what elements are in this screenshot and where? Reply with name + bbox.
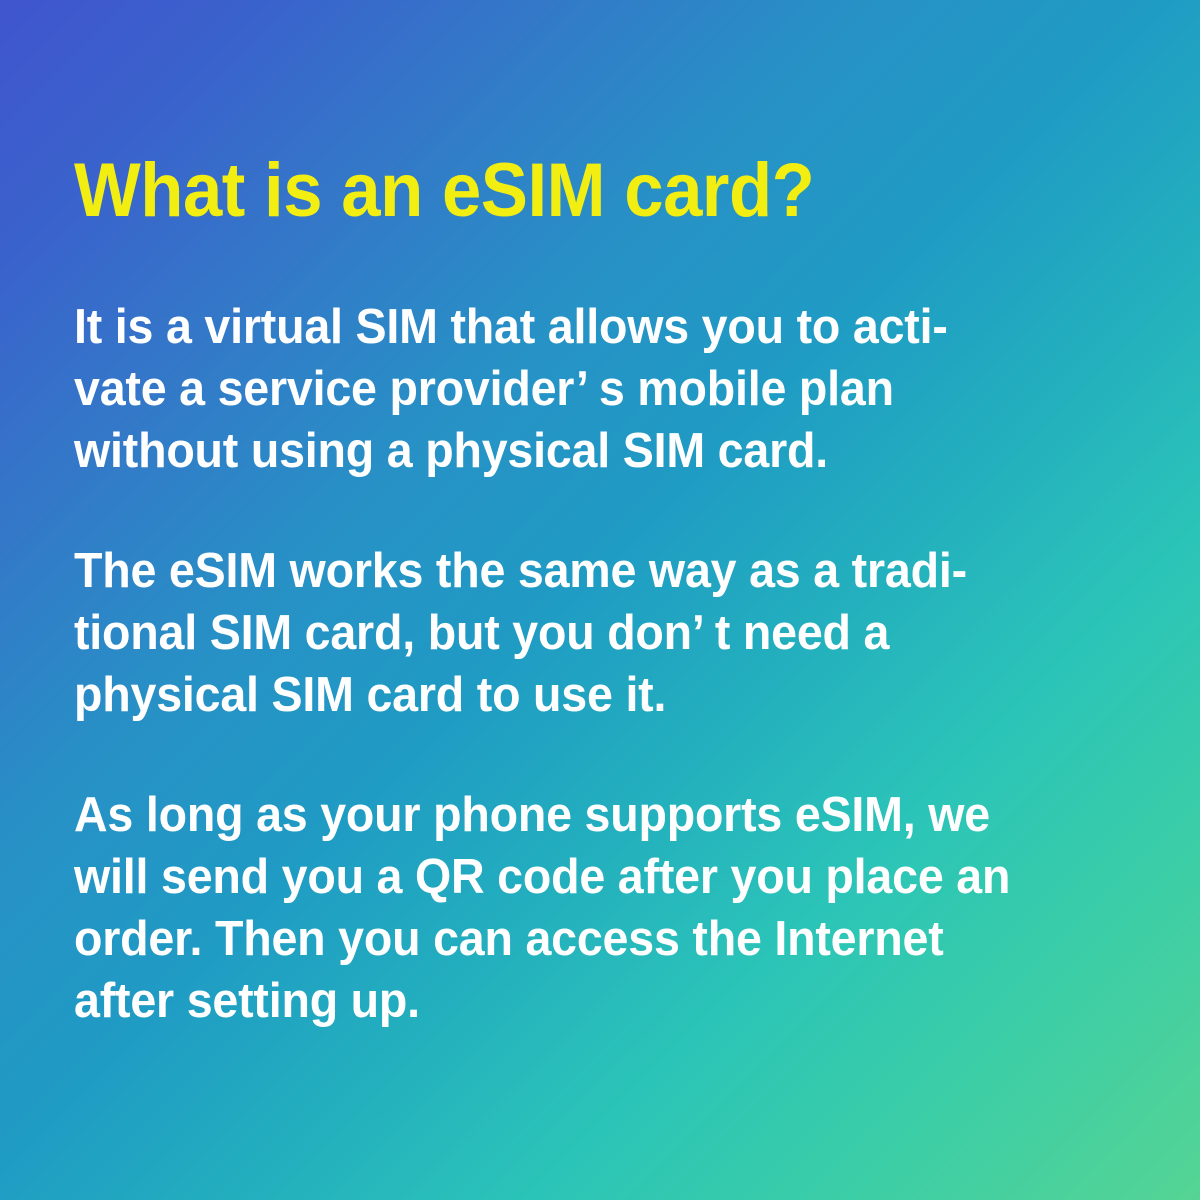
body-text-block: It is a virtual SIM that allows you to a… [74, 296, 1084, 1032]
paragraph-definition: It is a virtual SIM that allows you to a… [74, 296, 1034, 482]
paragraph-qr-code-delivery: As long as your phone supports eSIM, we … [74, 784, 1034, 1032]
paragraph-how-it-works: The eSIM works the same way as a tradi- … [74, 540, 1034, 726]
esim-info-graphic: What is an eSIM card? It is a virtual SI… [0, 0, 1200, 1200]
page-title: What is an eSIM card? [74, 148, 814, 234]
